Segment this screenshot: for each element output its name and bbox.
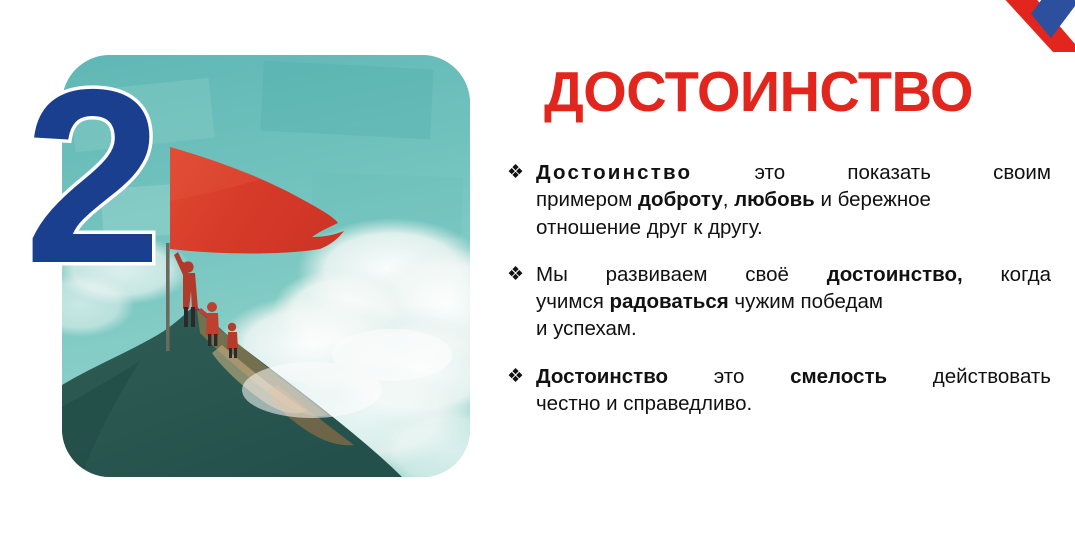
text-line: примером доброту, любовь и бережное: [536, 186, 1051, 213]
body-text: показать: [847, 159, 931, 186]
body-text: примером: [536, 188, 638, 211]
emphasis-text: доброту: [638, 188, 723, 211]
text-line: Достоинствоэтопоказатьсвоим: [536, 159, 1051, 186]
body-text: своим: [993, 159, 1051, 186]
text-line: Достоинствоэтосмелостьдействовать: [536, 363, 1051, 390]
body-text: это: [714, 363, 745, 390]
list-item-text: Мыразвиваемсвоёдостоинство,когдаучимся р…: [536, 261, 1051, 343]
text-line: отношение друг к другу.: [536, 214, 1051, 241]
text-line: учимся радоваться чужим победам: [536, 288, 1051, 315]
body-text: отношение друг к другу.: [536, 216, 763, 239]
page-title: ДОСТОИНСТВО: [544, 64, 1041, 121]
body-text: развиваем: [606, 261, 708, 288]
body-text: Мы: [536, 261, 568, 288]
body-text: ,: [723, 188, 734, 211]
body-text: когда: [1000, 261, 1051, 288]
list-item: ❖Достоинствоэтосмелостьдействоватьчестно…: [506, 363, 1051, 418]
emphasis-text: достоинство,: [827, 261, 963, 288]
emphasis-text: Достоинство: [536, 159, 692, 186]
emphasis-text: радоваться: [610, 290, 729, 313]
bullet-diamond-icon: ❖: [507, 160, 524, 185]
content-column: ДОСТОИНСТВО ❖Достоинствоэтопоказатьсвоим…: [506, 64, 1051, 417]
body-text: это: [755, 159, 786, 186]
bullet-diamond-icon: ❖: [507, 262, 524, 287]
list-item: ❖Достоинствоэтопоказатьсвоимпримером доб…: [506, 159, 1051, 241]
corner-logo-mark: [955, 0, 1075, 52]
emphasis-text: смелость: [790, 363, 887, 390]
list-item-text: Достоинствоэтосмелостьдействоватьчестно …: [536, 363, 1051, 418]
bullet-list: ❖Достоинствоэтопоказатьсвоимпримером доб…: [506, 159, 1051, 417]
checkmark-logo-icon: [955, 0, 1075, 52]
slide-number-2: 2: [24, 52, 158, 300]
body-text: честно и справедливо.: [536, 392, 752, 415]
body-text: учимся: [536, 290, 610, 313]
text-line: и успехам.: [536, 315, 1051, 342]
body-text: и успехам.: [536, 317, 637, 340]
body-text: действовать: [933, 363, 1051, 390]
bullet-diamond-icon: ❖: [507, 364, 524, 389]
body-text: чужим победам: [729, 290, 883, 313]
text-line: Мыразвиваемсвоёдостоинство,когда: [536, 261, 1051, 288]
body-text: и бережное: [815, 188, 931, 211]
list-item: ❖Мыразвиваемсвоёдостоинство,когдаучимся …: [506, 261, 1051, 343]
body-text: своё: [745, 261, 789, 288]
list-item-text: Достоинствоэтопоказатьсвоимпримером добр…: [536, 159, 1051, 241]
text-line: честно и справедливо.: [536, 390, 1051, 417]
emphasis-text: Достоинство: [536, 363, 668, 390]
emphasis-text: любовь: [734, 188, 815, 211]
